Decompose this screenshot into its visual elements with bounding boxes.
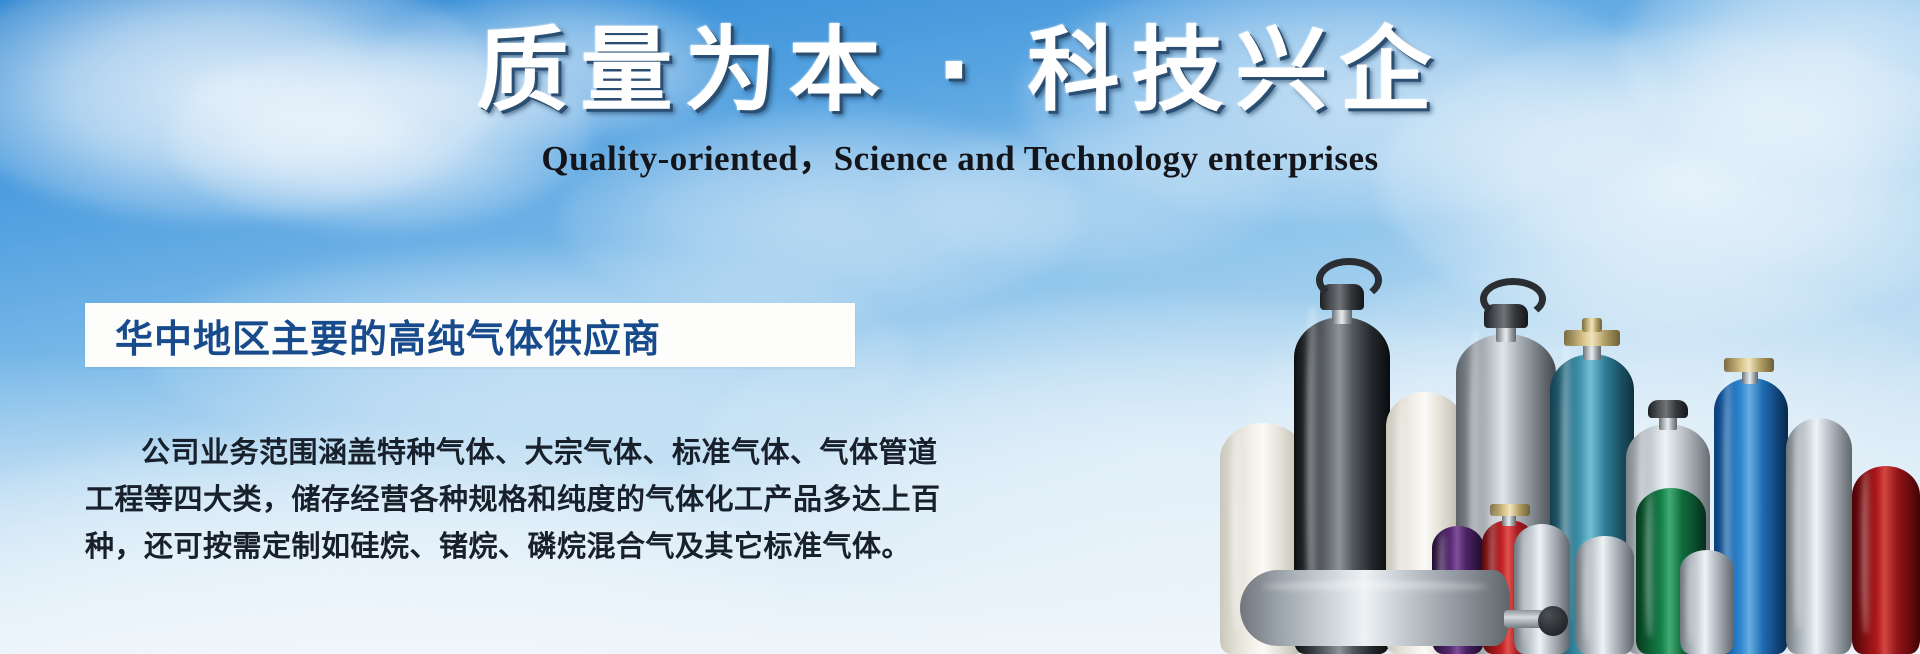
- cylinder-handle-icon: [1316, 258, 1382, 302]
- small-aluminium-bottle: [1680, 550, 1734, 654]
- small-aluminium-bottle: [1514, 522, 1570, 654]
- cylinder-valve-icon: [1564, 330, 1620, 346]
- description-line: 种，还可按需定制如硅烷、锗烷、磷烷混合气及其它标准气体。: [85, 524, 865, 571]
- grey-lying-cylinder: [1240, 570, 1510, 646]
- description-line: 公司业务范围涵盖特种气体、大宗气体、标准气体、气体管道: [85, 430, 865, 477]
- headline-block: 质量为本 · 科技兴企 Quality-oriented，Science and…: [0, 18, 1920, 181]
- cylinder-valve-icon: [1724, 358, 1774, 372]
- dark-red-cylinder: [1852, 458, 1920, 654]
- company-description: 公司业务范围涵盖特种气体、大宗气体、标准气体、气体管道 工程等四大类，储存经营各…: [85, 430, 865, 571]
- slogan-highlight-box: 华中地区主要的高纯气体供应商: [85, 303, 855, 367]
- valve-knob-icon: [1538, 606, 1568, 636]
- valve-knob-icon: [1582, 318, 1602, 332]
- headline-chinese: 质量为本 · 科技兴企: [476, 18, 1443, 124]
- slogan-text: 华中地区主要的高纯气体供应商: [85, 308, 661, 363]
- aluminium-cylinder: [1786, 404, 1852, 654]
- small-aluminium-bottle: [1576, 534, 1634, 654]
- gas-company-banner: 质量为本 · 科技兴企 Quality-oriented，Science and…: [0, 0, 1920, 654]
- description-line: 工程等四大类，储存经营各种规格和纯度的气体化工产品多达上百: [85, 477, 865, 524]
- headline-english: Quality-oriented，Science and Technology …: [0, 130, 1920, 181]
- gas-cylinder-product-group: [1220, 234, 1920, 654]
- cylinder-handle-icon: [1480, 278, 1546, 320]
- cylinder-valve-icon: [1490, 504, 1530, 516]
